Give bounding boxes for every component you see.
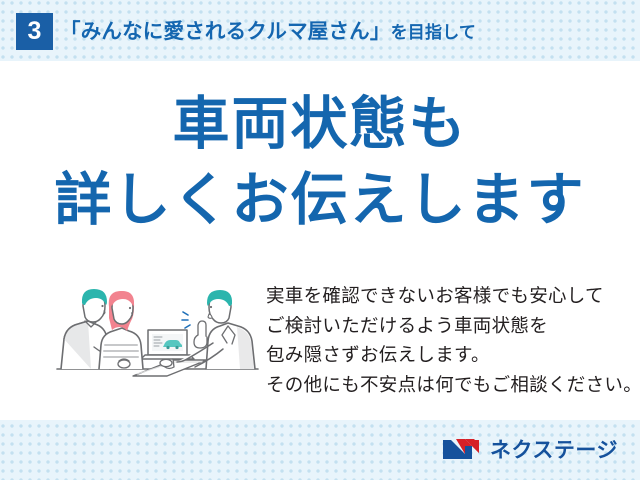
body-copy-line-4: その他にも不安点は何でもご相談ください。 [266, 370, 626, 400]
headline-line-1: 車両状態も [0, 94, 640, 156]
content-card: 車両状態も 詳しくお伝えします [0, 61, 640, 420]
headline-line-2: 詳しくお伝えします [0, 170, 640, 232]
body-copy-line-3: 包み隠さずお伝えします。 [266, 340, 626, 370]
promotional-banner: 3 「みんなに愛されるクルマ屋さん」を目指して 車両状態も 詳しくお伝えします [0, 0, 640, 480]
consultation-illustration [55, 273, 260, 398]
brand-footer: ネクステージ [441, 431, 618, 467]
nextage-n-logo-icon [441, 434, 481, 464]
body-copy: 実車を確認できないお客様でも安心して ご検討いただけるよう車両状態を 包み隠さず… [266, 281, 626, 399]
header-title-suffix: を目指して [391, 23, 477, 42]
brand-name: ネクステージ [490, 434, 618, 464]
body-copy-line-1: 実車を確認できないお客様でも安心して [266, 281, 626, 311]
header-title: 「みんなに愛されるクルマ屋さん」を目指して [60, 15, 476, 49]
body-copy-line-2: ご検討いただけるよう車両状態を [266, 311, 626, 341]
header-strip: 3 「みんなに愛されるクルマ屋さん」を目指して [0, 0, 640, 61]
headline: 車両状態も 詳しくお伝えします [0, 94, 640, 231]
step-number-badge: 3 [16, 13, 53, 50]
header-title-main: 「みんなに愛されるクルマ屋さん」 [60, 20, 391, 43]
